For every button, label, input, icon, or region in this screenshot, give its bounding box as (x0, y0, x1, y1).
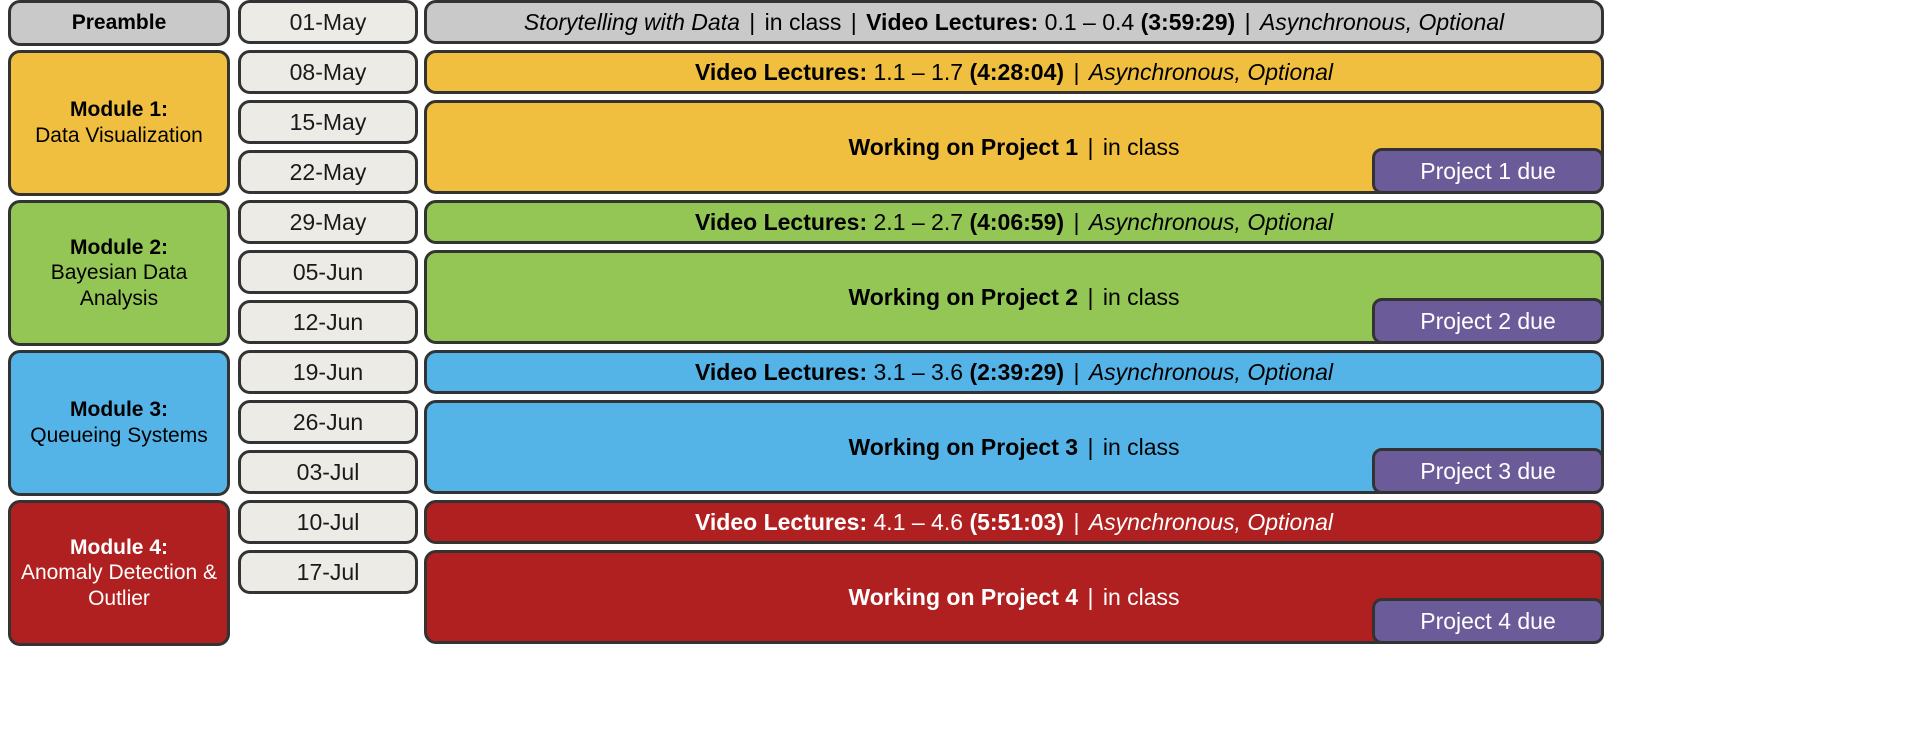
activity-bar-lectures[interactable]: Video Lectures: 2.1 – 2.7 (4:06:59) | As… (424, 200, 1604, 244)
bar-segment: in class (1103, 134, 1180, 160)
bar-segment: 1.1 – 1.7 (874, 59, 964, 85)
activity-bar-text: Video Lectures: 4.1 – 4.6 (5:51:03) | As… (695, 508, 1333, 536)
bar-segment: 2.1 – 2.7 (874, 209, 964, 235)
date-cell[interactable]: 10-Jul (238, 500, 418, 544)
bar-segment: | (1084, 584, 1096, 610)
bar-segment: | (1070, 509, 1082, 535)
module-subtitle: Bayesian Data Analysis (17, 260, 221, 311)
bar-segment: | (1084, 134, 1096, 160)
date-cell[interactable]: 01-May (238, 0, 418, 44)
module-title: Module 3: (70, 397, 168, 423)
activity-bar-lectures[interactable]: Video Lectures: 3.1 – 3.6 (2:39:29) | As… (424, 350, 1604, 394)
module-label-2[interactable]: Module 2:Bayesian Data Analysis (8, 200, 230, 346)
module-subtitle: Data Visualization (35, 123, 203, 149)
bar-segment: in class (1103, 284, 1180, 310)
bar-segment: in class (1103, 434, 1180, 460)
project-due-badge[interactable]: Project 4 due (1372, 598, 1604, 644)
bar-segment: Video Lectures: (695, 359, 867, 385)
date-cell[interactable]: 26-Jun (238, 400, 418, 444)
bar-segment: (4:06:59) (969, 209, 1064, 235)
bar-segment: Asynchronous, Optional (1260, 9, 1504, 35)
activity-bar-lectures[interactable]: Video Lectures: 4.1 – 4.6 (5:51:03) | As… (424, 500, 1604, 544)
bar-segment: Working on Project 2 (848, 284, 1078, 310)
bar-segment: | (1084, 284, 1096, 310)
bar-segment: Video Lectures: (866, 9, 1038, 35)
date-cell[interactable]: 17-Jul (238, 550, 418, 594)
activity-bar-lectures[interactable]: Video Lectures: 1.1 – 1.7 (4:28:04) | As… (424, 50, 1604, 94)
date-cell[interactable]: 29-May (238, 200, 418, 244)
activity-bar-text: Working on Project 2 | in class (848, 283, 1179, 311)
bar-segment: | (1084, 434, 1096, 460)
module-label-3[interactable]: Module 3:Queueing Systems (8, 350, 230, 496)
activity-bar-text: Working on Project 3 | in class (848, 433, 1179, 461)
bar-segment: Working on Project 4 (848, 584, 1078, 610)
bar-segment: Video Lectures: (695, 59, 867, 85)
activity-bar-text: Video Lectures: 2.1 – 2.7 (4:06:59) | As… (695, 208, 1333, 236)
activity-bar-text: Video Lectures: 3.1 – 3.6 (2:39:29) | As… (695, 358, 1333, 386)
bar-segment: Working on Project 1 (848, 134, 1078, 160)
module-label-4[interactable]: Module 4:Anomaly Detection & Outlier (8, 500, 230, 646)
bar-segment: in class (1103, 584, 1180, 610)
bar-segment: Asynchronous, Optional (1089, 359, 1333, 385)
date-cell[interactable]: 22-May (238, 150, 418, 194)
bar-segment: Video Lectures: (695, 509, 867, 535)
module-title: Module 4: (70, 535, 168, 561)
bar-segment: in class (765, 9, 842, 35)
activity-bar-text: Working on Project 1 | in class (848, 133, 1179, 161)
module-title: Module 1: (70, 97, 168, 123)
date-cell[interactable]: 12-Jun (238, 300, 418, 344)
activity-bar-lectures[interactable]: Storytelling with Data | in class | Vide… (424, 0, 1604, 44)
bar-segment: Working on Project 3 (848, 434, 1078, 460)
project-due-badge[interactable]: Project 3 due (1372, 448, 1604, 494)
bar-segment: | (1070, 209, 1082, 235)
bar-segment: | (1070, 59, 1082, 85)
date-cell[interactable]: 19-Jun (238, 350, 418, 394)
bar-segment: Video Lectures: (695, 209, 867, 235)
module-label-1[interactable]: Module 1:Data Visualization (8, 50, 230, 196)
module-subtitle: Anomaly Detection & Outlier (17, 560, 221, 611)
activity-bar-text: Storytelling with Data | in class | Vide… (524, 8, 1504, 36)
bar-segment: | (848, 9, 860, 35)
bar-segment: Storytelling with Data (524, 9, 740, 35)
bar-segment: (2:39:29) (969, 359, 1064, 385)
bar-segment: 4.1 – 4.6 (874, 509, 964, 535)
activity-bar-text: Video Lectures: 1.1 – 1.7 (4:28:04) | As… (695, 58, 1333, 86)
bar-segment: | (1070, 359, 1082, 385)
course-schedule-timeline: Preamble01-MayStorytelling with Data | i… (0, 0, 1920, 750)
bar-segment: | (1242, 9, 1254, 35)
project-due-badge[interactable]: Project 2 due (1372, 298, 1604, 344)
bar-segment: 0.1 – 0.4 (1045, 9, 1135, 35)
project-due-badge[interactable]: Project 1 due (1372, 148, 1604, 194)
date-cell[interactable]: 08-May (238, 50, 418, 94)
date-cell[interactable]: 15-May (238, 100, 418, 144)
module-title: Preamble (72, 10, 167, 36)
bar-segment: Asynchronous, Optional (1089, 209, 1333, 235)
date-cell[interactable]: 05-Jun (238, 250, 418, 294)
activity-bar-text: Working on Project 4 | in class (848, 583, 1179, 611)
bar-segment: 3.1 – 3.6 (874, 359, 964, 385)
module-title: Module 2: (70, 235, 168, 261)
bar-segment: (5:51:03) (969, 509, 1064, 535)
date-cell[interactable]: 03-Jul (238, 450, 418, 494)
bar-segment: | (746, 9, 758, 35)
bar-segment: (3:59:29) (1141, 9, 1236, 35)
module-subtitle: Queueing Systems (30, 423, 207, 449)
bar-segment: Asynchronous, Optional (1089, 509, 1333, 535)
bar-segment: (4:28:04) (969, 59, 1064, 85)
module-label-0[interactable]: Preamble (8, 0, 230, 46)
bar-segment: Asynchronous, Optional (1089, 59, 1333, 85)
